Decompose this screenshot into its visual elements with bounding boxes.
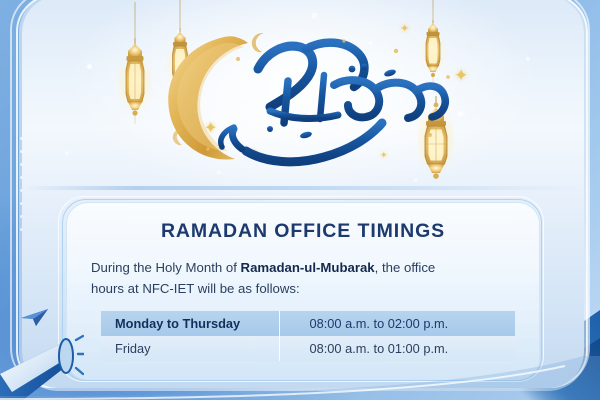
megaphone-icon: [0, 334, 84, 400]
ramadan-mubarak-calligraphy: [138, 23, 468, 173]
ramadan-poster: ✦ ✦ ✦ ✦ ✦ ✦: [0, 0, 600, 400]
office-timings-table: Monday to Thursday 08:00 a.m. to 02:00 p…: [101, 311, 515, 361]
table-row: Friday 08:00 a.m. to 01:00 p.m.: [101, 336, 515, 361]
announcement-text-part1: During the Holy Month of: [91, 260, 241, 275]
page-title: RAMADAN OFFICE TIMINGS: [87, 220, 519, 243]
table-row: Monday to Thursday 08:00 a.m. to 02:00 p…: [101, 311, 515, 336]
paper-plane-icon: [20, 306, 50, 328]
announcement-text-bold: Ramadan-ul-Mubarak: [241, 260, 375, 275]
announcement-text-line2: hours at NFC-IET will be as follows:: [91, 281, 300, 296]
timing-day: Monday to Thursday: [101, 311, 279, 336]
announcement-text-part2: , the office: [375, 260, 436, 275]
hero-artwork: ✦ ✦ ✦ ✦ ✦ ✦: [22, 0, 584, 196]
info-card: RAMADAN OFFICE TIMINGS During the Holy M…: [66, 202, 540, 380]
timing-hours: 08:00 a.m. to 02:00 p.m.: [279, 311, 515, 336]
timing-day: Friday: [101, 336, 279, 361]
announcement-text: During the Holy Month of Ramadan-ul-Muba…: [87, 257, 519, 300]
timing-hours: 08:00 a.m. to 01:00 p.m.: [279, 336, 515, 361]
